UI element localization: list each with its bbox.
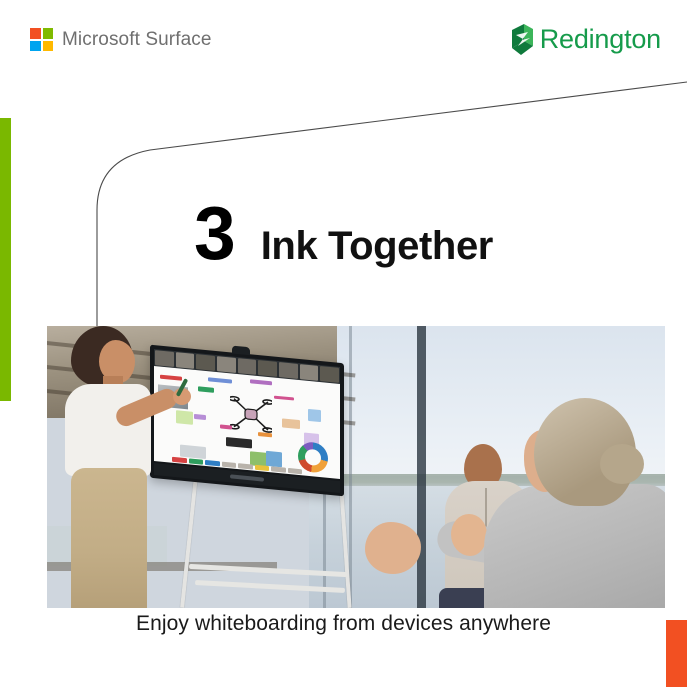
slide-title: 3 Ink Together	[0, 196, 687, 271]
window-mullion	[417, 326, 426, 608]
window-mullion-thin	[349, 326, 352, 608]
toolbar-more-icon	[288, 468, 303, 474]
whiteboard-ink-text	[274, 396, 294, 401]
participant-tile	[320, 366, 339, 383]
whiteboard-drone-thumbnail	[226, 437, 252, 449]
whiteboard-sticky-note	[258, 432, 272, 437]
microsoft-logo-square-yellow	[43, 41, 54, 52]
toolbar-pen-icon	[205, 460, 220, 466]
whiteboard-sticky-note	[194, 414, 206, 420]
toolbar-shape-icon	[238, 463, 253, 469]
hub-control-bar	[230, 474, 264, 481]
page-title: Ink Together	[261, 226, 493, 266]
participant-tile	[300, 364, 319, 381]
hub-camera-icon	[232, 346, 250, 356]
whiteboard-sticky-note	[308, 409, 321, 422]
hero-photo	[47, 326, 665, 608]
microsoft-surface-wordmark: Microsoft Surface	[62, 29, 212, 51]
participant-tile	[155, 350, 174, 367]
photo-scene	[47, 326, 665, 608]
participant-tile	[279, 362, 298, 379]
whiteboard-sticky-note	[176, 410, 193, 425]
whiteboard-chart-block	[266, 451, 282, 468]
whiteboard-sticky-note	[198, 386, 214, 393]
participant-tile	[238, 358, 257, 375]
surface-hub-display	[150, 345, 344, 497]
whiteboard-drone-sketch	[230, 395, 272, 433]
whiteboard-sticky-note	[220, 424, 232, 429]
foreground-woman-hand-2	[451, 514, 487, 556]
toolbar-pen-icon	[189, 458, 204, 464]
microsoft-logo-icon	[30, 28, 53, 51]
foreground-woman-bun	[600, 444, 644, 484]
toolbar-image-icon	[271, 466, 286, 472]
redington-wordmark: Redington	[540, 24, 661, 55]
participant-tile	[217, 356, 236, 373]
whiteboard-ink-text	[208, 377, 232, 383]
whiteboard-donut-chart	[298, 441, 328, 474]
participant-tile	[258, 360, 277, 377]
foreground-woman-hand	[365, 522, 421, 574]
whiteboard-ink-text	[250, 379, 272, 385]
toolbar-pen-icon	[172, 457, 187, 463]
whiteboard-ink-text	[160, 375, 182, 381]
slide-header: Microsoft Surface Redington	[0, 0, 687, 80]
slide-number: 3	[194, 196, 235, 271]
redington-brand: Redington	[510, 23, 661, 56]
whiteboard-sticky-note	[282, 418, 300, 429]
presenter-trousers	[71, 468, 147, 608]
microsoft-logo-square-orange	[30, 28, 41, 39]
toolbar-note-icon	[255, 465, 270, 471]
toolbar-eraser-icon	[222, 462, 237, 468]
slide-caption: Enjoy whiteboarding from devices anywher…	[0, 612, 687, 636]
presenter-shirt	[65, 384, 151, 476]
whiteboard-drone-thumbnail	[180, 445, 206, 460]
participant-tile	[176, 352, 195, 369]
redington-logo-icon	[510, 23, 535, 56]
participant-tile	[196, 354, 215, 371]
microsoft-logo-square-green	[43, 28, 54, 39]
microsoft-surface-brand: Microsoft Surface	[30, 28, 212, 51]
microsoft-logo-square-blue	[30, 41, 41, 52]
